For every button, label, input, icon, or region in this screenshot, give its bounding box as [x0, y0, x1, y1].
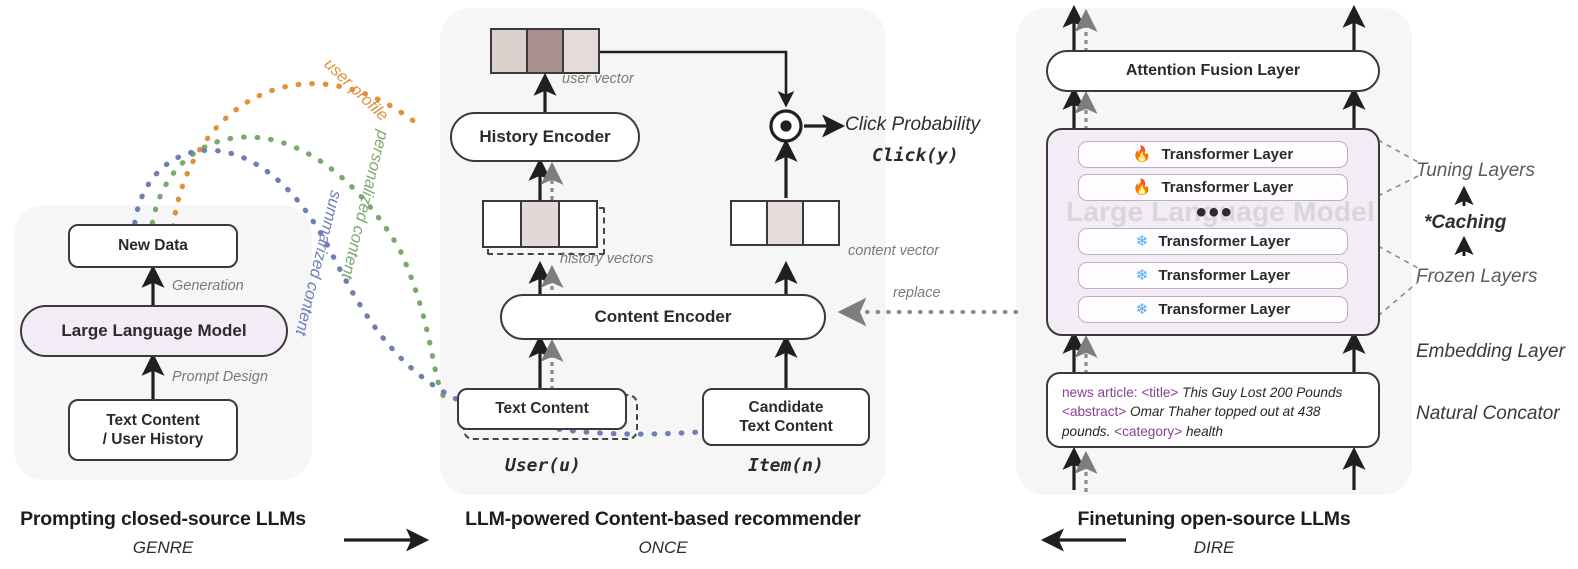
caption-left-sub: GENRE [14, 538, 312, 558]
caption-middle: LLM-powered Content-based recommender ON… [440, 508, 886, 558]
item-token-label: Item(n) [748, 455, 824, 476]
transformer-layer-row-0[interactable]: 🔥 Transformer Layer [1078, 141, 1348, 168]
diagram-canvas: user profile personalized content summar… [0, 0, 1578, 569]
transformer-layer-label-3: Transformer Layer [1158, 267, 1290, 284]
side-label-tuning-layers: Tuning Layers [1416, 160, 1535, 182]
news-value-title: This Guy Lost 200 Pounds [1182, 385, 1342, 400]
user-vector-cell-1 [526, 28, 564, 74]
transformer-layer-row-4[interactable]: ❄ Transformer Layer [1078, 296, 1348, 323]
news-tag-category: <category> [1114, 424, 1182, 439]
replace-label: replace [893, 285, 941, 301]
content-vector-cell-1 [766, 200, 804, 246]
fire-icon: 🔥 [1133, 147, 1152, 162]
history-vectors-label: history vectors [560, 251, 653, 267]
fire-icon: 🔥 [1133, 180, 1152, 195]
history-encoder-box[interactable]: History Encoder [450, 112, 640, 162]
candidate-line-1: Candidate [749, 398, 824, 417]
content-vector-cell-0 [730, 200, 768, 246]
candidate-text-content-box[interactable]: Candidate Text Content [702, 388, 870, 446]
user-vector [490, 28, 600, 74]
click-probability-label: Click Probability [845, 114, 980, 136]
content-vector [730, 200, 842, 246]
history-vector-cell-1 [520, 200, 560, 248]
text-content-line-2: / User History [103, 430, 204, 449]
caption-right-title: Finetuning open-source LLMs [1016, 508, 1412, 531]
user-vector-label: user vector [562, 71, 634, 87]
new-data-box[interactable]: New Data [68, 224, 238, 268]
transformer-layer-label-2: Transformer Layer [1158, 233, 1290, 250]
snowflake-icon: ❄ [1136, 234, 1149, 249]
user-token-label: User(u) [505, 455, 581, 476]
news-value-category: health [1186, 424, 1223, 439]
content-vector-cell-2 [802, 200, 840, 246]
caption-left-title: Prompting closed-source LLMs [14, 508, 312, 531]
candidate-line-2: Text Content [739, 417, 833, 436]
history-vector-cell-2 [558, 200, 598, 248]
transformer-layer-label-0: Transformer Layer [1161, 146, 1293, 163]
caption-right-sub: DIRE [1016, 538, 1412, 558]
content-vector-label: content vector [848, 243, 939, 259]
transformer-layer-row-2[interactable]: ❄ Transformer Layer [1078, 228, 1348, 255]
edge-label-prompt-design: Prompt Design [172, 369, 268, 385]
transformer-layer-row-1[interactable]: 🔥 Transformer Layer [1078, 174, 1348, 201]
transformer-layer-label-4: Transformer Layer [1158, 301, 1290, 318]
news-article-card[interactable]: news article: <title> This Guy Lost 200 … [1046, 372, 1380, 448]
user-vector-cell-0 [490, 28, 528, 74]
side-label-embedding-layer: Embedding Layer [1416, 341, 1565, 363]
news-tag-abstract: <abstract> [1062, 404, 1126, 419]
caption-middle-title: LLM-powered Content-based recommender [440, 508, 886, 531]
user-vector-cell-2 [562, 28, 600, 74]
caption-middle-sub: ONCE [440, 538, 886, 558]
history-vector-cell-0 [482, 200, 522, 248]
transformer-layer-label-1: Transformer Layer [1161, 179, 1293, 196]
ellipsis-icon: ••• [1196, 198, 1234, 228]
text-content-box[interactable]: Text Content [457, 388, 627, 430]
caption-right: Finetuning open-source LLMs DIRE [1016, 508, 1412, 558]
curve-label-personalized-content: personalized content [337, 128, 392, 280]
history-vectors [482, 200, 600, 248]
text-content-user-history-box[interactable]: Text Content / User History [68, 399, 238, 461]
side-label-natural-concator: Natural Concator [1416, 403, 1560, 425]
snowflake-icon: ❄ [1136, 268, 1149, 283]
side-label-caching: *Caching [1424, 212, 1506, 234]
text-content-line-1: Text Content [106, 411, 200, 430]
curve-label-user-profile: user profile [320, 55, 392, 125]
transformer-layer-row-3[interactable]: ❄ Transformer Layer [1078, 262, 1348, 289]
snowflake-icon: ❄ [1136, 302, 1149, 317]
caption-left: Prompting closed-source LLMs GENRE [14, 508, 312, 558]
edge-label-generation: Generation [172, 278, 244, 294]
attention-fusion-layer-box[interactable]: Attention Fusion Layer [1046, 50, 1380, 92]
news-tag-title: news article: <title> [1062, 385, 1178, 400]
large-language-model-box[interactable]: Large Language Model [20, 305, 288, 357]
click-formula: Click(y) [872, 145, 959, 166]
side-label-frozen-layers: Frozen Layers [1416, 266, 1537, 288]
content-encoder-box[interactable]: Content Encoder [500, 294, 826, 340]
